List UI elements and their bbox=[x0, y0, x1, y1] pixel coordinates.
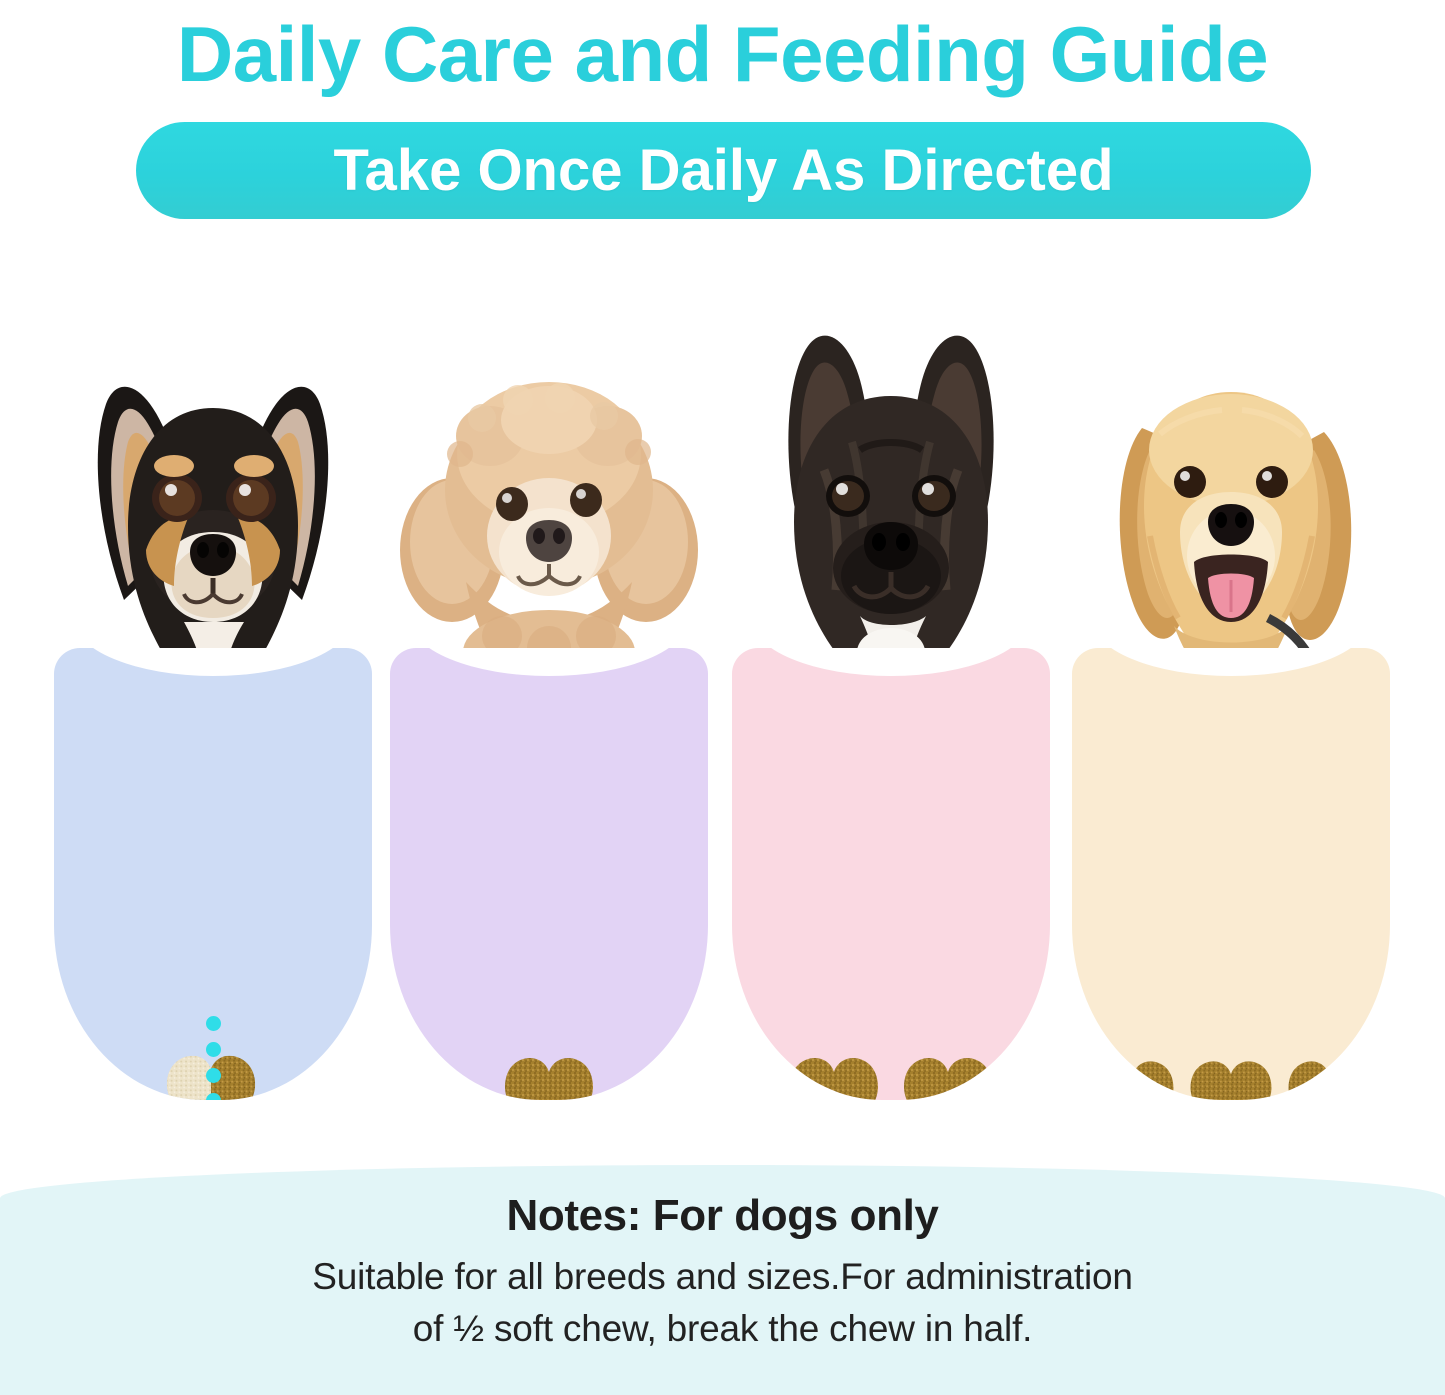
subtitle-text: Take Once Daily As Directed bbox=[333, 137, 1113, 204]
card-pocket: Up to10 lbs & Under ½ Soft Chew bbox=[54, 648, 372, 1100]
dosage-card-row: Up to10 lbs & Under ½ Soft Chew bbox=[0, 300, 1445, 1100]
dosage-card-40-79lbs[interactable]: 40-79 lbs: 2 Soft Chews bbox=[732, 300, 1050, 1100]
chew-heart bbox=[898, 1052, 998, 1100]
subtitle-pill: Take Once Daily As Directed bbox=[136, 122, 1311, 219]
dog-photo-french-bulldog bbox=[732, 300, 1050, 670]
notes-line-2: of ½ soft chew, break the chew in half. bbox=[0, 1305, 1445, 1353]
chew-heart bbox=[784, 1052, 884, 1100]
notes-line-1: Suitable for all breeds and sizes.For ad… bbox=[0, 1253, 1445, 1301]
seam-dot bbox=[206, 1093, 221, 1100]
chew-heart bbox=[1087, 1055, 1179, 1100]
chew-heart bbox=[1283, 1055, 1375, 1100]
card-pocket: 40-79 lbs: 2 Soft Chews bbox=[732, 648, 1050, 1100]
dog-photo-chihuahua bbox=[54, 300, 372, 670]
header: Daily Care and Feeding Guide Take Once D… bbox=[0, 0, 1445, 235]
seam-dot bbox=[206, 1042, 221, 1057]
seam-dot bbox=[206, 1016, 221, 1031]
notes-title: Notes: For dogs only bbox=[0, 1189, 1445, 1243]
card-pocket: 11-39 lbs: 1 Soft Chews bbox=[390, 648, 708, 1100]
half-chew-group bbox=[161, 1050, 265, 1100]
chew-heart bbox=[499, 1052, 599, 1100]
chew-tray bbox=[1072, 1020, 1390, 1100]
dog-photo-golden-retriever bbox=[1072, 300, 1390, 670]
dosage-card-11-39lbs[interactable]: 11-39 lbs: 1 Soft Chews bbox=[390, 300, 708, 1100]
page-title: Daily Care and Feeding Guide bbox=[0, 4, 1445, 104]
dosage-card-over-80lbs[interactable]: Over 80 lbs 3 Soft Chews bbox=[1072, 300, 1390, 1100]
chew-tray bbox=[390, 1020, 708, 1100]
seam-dot bbox=[206, 1068, 221, 1083]
chew-tray bbox=[732, 1020, 1050, 1100]
chew-tray bbox=[54, 1020, 372, 1100]
dog-photo-toy-poodle bbox=[390, 300, 708, 670]
notes-band: Notes: For dogs only Suitable for all br… bbox=[0, 1165, 1445, 1395]
card-pocket: Over 80 lbs 3 Soft Chews bbox=[1072, 648, 1390, 1100]
break-line-dots bbox=[204, 1016, 222, 1100]
dosage-card-up-to-10lbs[interactable]: Up to10 lbs & Under ½ Soft Chew bbox=[54, 300, 372, 1100]
chew-heart bbox=[1185, 1055, 1277, 1100]
